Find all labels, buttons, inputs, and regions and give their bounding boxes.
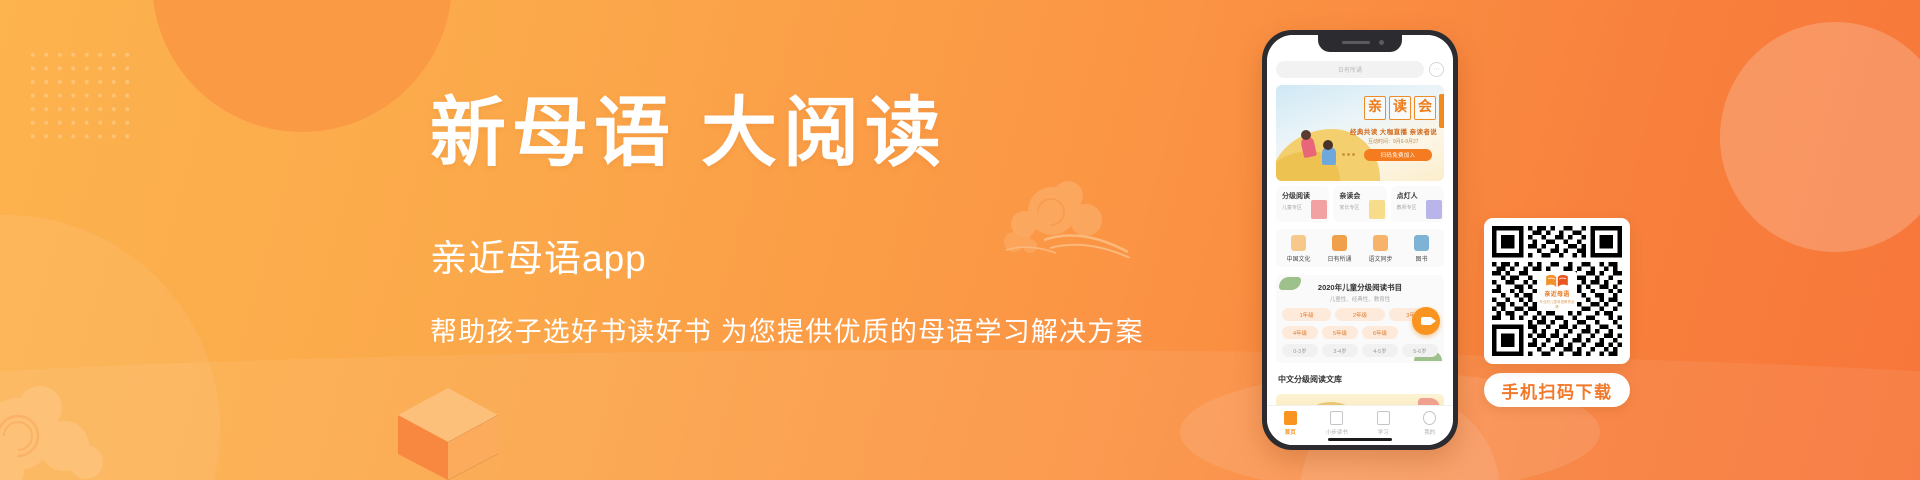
book-red-icon — [1311, 200, 1327, 219]
background-hill-shape — [0, 350, 1920, 480]
tab-label: 我的 — [1424, 428, 1435, 436]
section-title: 中文分级阅读文库 — [1274, 368, 1446, 385]
quick-icon-item[interactable]: 中国文化 — [1278, 235, 1319, 263]
qr-logo-name: 亲近母语 — [1544, 289, 1569, 298]
age-chip[interactable]: 0-3岁 — [1282, 344, 1318, 357]
qr-code-card: 亲近母语 专业的儿童母语教育品牌 — [1484, 218, 1630, 364]
hero-char: 会 — [1414, 96, 1436, 120]
banner-copy-block: 新母语 大阅读 亲近母语app 帮助孩子选好书读好书 为您提供优质的母语学习解决… — [430, 96, 1230, 349]
bottom-tab-bar: 首页 小步读书 学习 我的 — [1267, 405, 1453, 445]
quick-icon-label: 日有所诵 — [1327, 254, 1351, 263]
booklist-subtitle: 儿童性、经典性、教育性 — [1282, 295, 1438, 303]
search-row: 日有所诵 ··· — [1274, 61, 1446, 78]
tab-profile[interactable]: 我的 — [1407, 411, 1454, 436]
entry-cards-row: 分级阅读 儿童专区 亲读会 家长专区 点灯人 教师专区 — [1274, 186, 1446, 222]
hero-banner-card[interactable]: 亲 读 会 第五期 经典共读 大咖直播 亲读者说 互动时间：9月6-9月27 扫… — [1276, 85, 1444, 181]
age-chip[interactable]: 5-6岁 — [1402, 344, 1438, 357]
study-icon — [1377, 411, 1390, 425]
promo-banner: 新母语 大阅读 亲近母语app 帮助孩子选好书读好书 为您提供优质的母语学习解决… — [0, 0, 1920, 480]
phone-screen: 日有所诵 ··· 亲 读 会 第五期 经典共读 大咖 — [1267, 35, 1453, 445]
quick-icon-row: 中国文化 日有所诵 语文同步 图书 — [1276, 229, 1444, 267]
quick-icon-item[interactable]: 语文同步 — [1360, 235, 1401, 263]
child-head-b — [1323, 140, 1333, 150]
download-button[interactable]: 手机扫码下载 — [1484, 373, 1630, 407]
age-chip[interactable]: 4-5岁 — [1362, 344, 1398, 357]
child-head-a — [1301, 130, 1311, 140]
grade-chip[interactable]: 2年级 — [1335, 308, 1384, 321]
hero-char: 亲 — [1364, 96, 1386, 120]
open-book-icon — [1543, 273, 1571, 288]
entry-card[interactable]: 点灯人 教师专区 — [1391, 186, 1444, 222]
book-purple-icon — [1426, 200, 1442, 219]
read-icon — [1330, 411, 1343, 425]
grade-chip[interactable]: 1年级 — [1282, 308, 1331, 321]
qr-center-logo: 亲近母语 专业的儿童母语教育品牌 — [1537, 271, 1577, 311]
entry-card[interactable]: 分级阅读 儿童专区 — [1276, 186, 1329, 222]
app-screen-content: 日有所诵 ··· 亲 读 会 第五期 经典共读 大咖 — [1267, 35, 1453, 445]
quick-icon-item[interactable]: 日有所诵 — [1319, 235, 1360, 263]
more-icon[interactable]: ··· — [1429, 62, 1444, 77]
chinese-cloud-icon-left — [0, 374, 158, 480]
tab-study[interactable]: 学习 — [1360, 411, 1407, 436]
camera-icon — [1379, 40, 1384, 45]
hero-date: 互动时间：9月6-9月27 — [1368, 138, 1419, 145]
culture-icon — [1291, 235, 1306, 251]
hero-flag-badge: 第五期 — [1439, 94, 1444, 128]
dot-grid-icon — [26, 48, 130, 140]
tab-label: 小步读书 — [1326, 428, 1348, 436]
quick-icon-label: 中国文化 — [1286, 254, 1310, 263]
tab-label: 首页 — [1285, 428, 1296, 436]
home-icon — [1284, 411, 1297, 425]
entry-card[interactable]: 亲读会 家长专区 — [1333, 186, 1386, 222]
tab-home[interactable]: 首页 — [1267, 411, 1314, 436]
isometric-cube-icon — [398, 388, 498, 480]
qr-logo-slogan: 专业的儿童母语教育品牌 — [1539, 299, 1575, 309]
background-circle-bottom-left — [0, 215, 220, 480]
hero-subtitle: 经典共读 大咖直播 亲读者说 — [1350, 126, 1437, 136]
recite-icon — [1332, 235, 1347, 251]
background-circle-top-right — [1720, 22, 1920, 252]
age-chip[interactable]: 3-4岁 — [1322, 344, 1358, 357]
profile-icon — [1423, 411, 1436, 425]
tab-read[interactable]: 小步读书 — [1314, 411, 1361, 436]
hero-char: 读 — [1389, 96, 1411, 120]
age-row: 0-3岁 3-4岁 4-5岁 5-6岁 — [1282, 344, 1438, 357]
qr-block: 亲近母语 专业的儿童母语教育品牌 手机扫码下载 — [1484, 218, 1630, 407]
grade-row-2: 4年级 5年级 6年级 — [1282, 326, 1438, 339]
speaker-icon — [1342, 41, 1370, 44]
banner-subtitle: 亲近母语app — [430, 228, 1230, 282]
background-circle-top-left — [152, 0, 452, 132]
grade-chip[interactable]: 6年级 — [1362, 326, 1398, 339]
book-yellow-icon — [1369, 200, 1385, 219]
hero-title-chars: 亲 读 会 — [1364, 96, 1436, 120]
hero-dots-icon — [1342, 153, 1355, 156]
grade-chip[interactable]: 5年级 — [1322, 326, 1358, 339]
quick-icon-label: 语文同步 — [1368, 254, 1392, 263]
tab-label: 学习 — [1378, 428, 1389, 436]
quick-icon-label: 图书 — [1415, 254, 1427, 263]
grade-row-1: 1年级 2年级 3年级 — [1282, 308, 1438, 321]
grade-chip[interactable]: 4年级 — [1282, 326, 1318, 339]
sync-icon — [1373, 235, 1388, 251]
home-indicator — [1328, 438, 1392, 441]
booklist-title: 2020年儿童分级阅读书目 — [1282, 282, 1438, 293]
phone-mockup: 日有所诵 ··· 亲 读 会 第五期 经典共读 大咖 — [1262, 30, 1458, 450]
banner-tagline: 帮助孩子选好书读好书 为您提供优质的母语学习解决方案 — [430, 310, 1230, 349]
quick-icon-item[interactable]: 图书 — [1401, 235, 1442, 263]
books-icon — [1414, 235, 1429, 251]
hero-cta-button[interactable]: 扫码免费加入 — [1364, 149, 1432, 161]
page-title: 新母语 大阅读 — [430, 96, 1230, 172]
phone-notch — [1318, 35, 1402, 52]
booklist-card[interactable]: 2020年儿童分级阅读书目 儿童性、经典性、教育性 1年级 2年级 3年级 4年… — [1276, 275, 1444, 363]
search-input[interactable]: 日有所诵 — [1276, 61, 1424, 78]
